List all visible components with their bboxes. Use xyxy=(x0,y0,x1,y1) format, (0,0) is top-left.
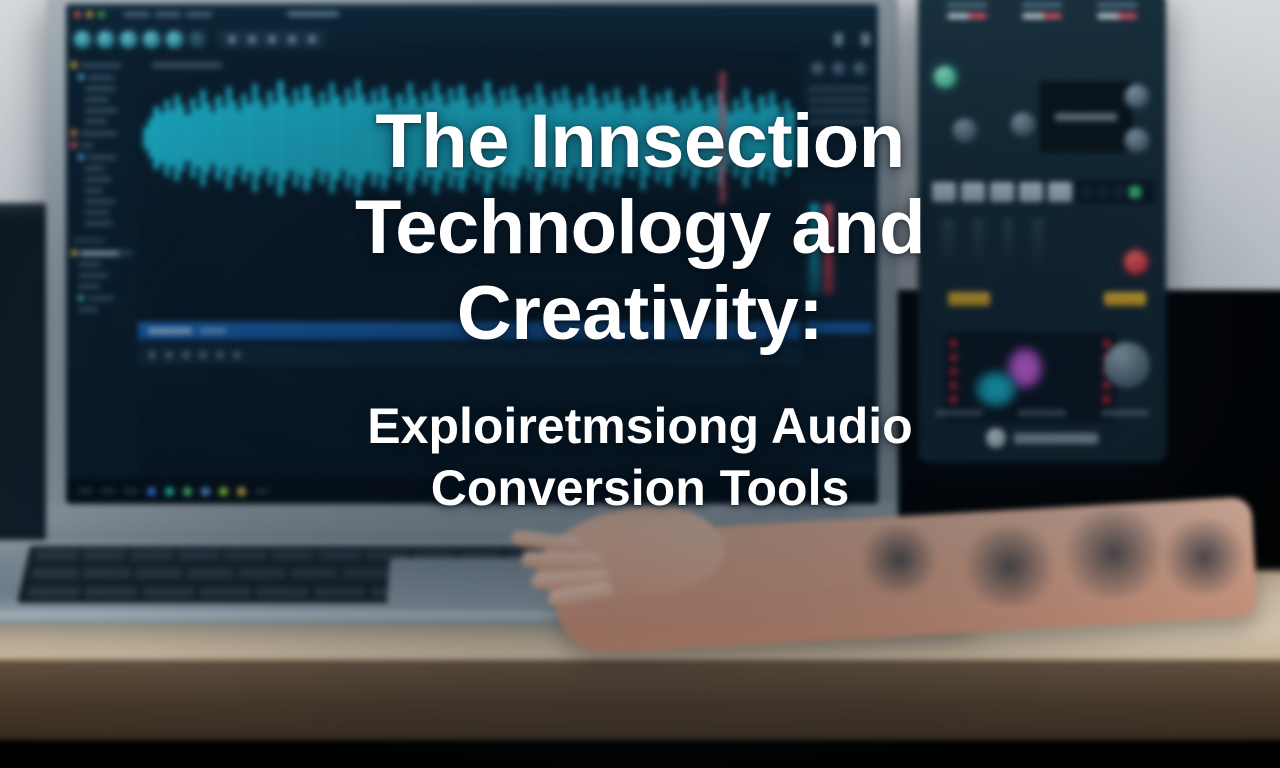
header-graphic: The Innsection Technology and Creativity… xyxy=(0,0,1280,768)
headline-overlay: The Innsection Technology and Creativity… xyxy=(0,0,1280,768)
headline-line-3: Creativity: xyxy=(457,276,823,352)
subheadline-line-1: Exploiretmsiong Audio xyxy=(367,398,912,454)
subheadline-line-2: Conversion Tools xyxy=(431,460,850,516)
headline-line-1: The Innsection xyxy=(375,104,904,180)
headline-line-2: Technology and xyxy=(355,190,925,266)
